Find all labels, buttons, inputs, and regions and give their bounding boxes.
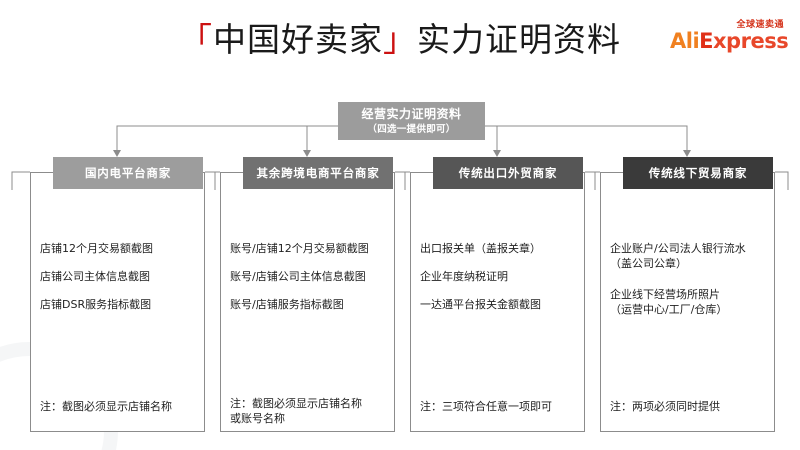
column-header-badge: 其余跨境电商平台商家	[243, 157, 393, 189]
list-item: 店铺DSR服务指标截图	[40, 297, 197, 312]
category-columns: 国内电平台商家 店铺12个月交易额截图 店铺公司主体信息截图 店铺DSR服务指标…	[0, 156, 800, 436]
column-header-badge: 传统出口外贸商家	[433, 157, 583, 189]
root-node-title: 经营实力证明资料	[338, 106, 485, 123]
column-header-badge: 国内电平台商家	[53, 157, 203, 189]
list-item: 出口报关单（盖报关章）	[420, 241, 577, 256]
aliexpress-logo: 全球速卖通 AliExpress	[670, 20, 786, 60]
root-node-subtitle: （四选一提供即可）	[338, 123, 485, 137]
list-item: 店铺12个月交易额截图	[40, 241, 197, 256]
logo-wordmark: AliExpress	[670, 30, 786, 52]
list-item: 企业账户/公司法人银行流水 （盖公司公章）	[610, 241, 767, 271]
list-item: 企业年度纳税证明	[420, 269, 577, 284]
list-item: 账号/店铺服务指标截图	[230, 297, 387, 312]
column-other-cross-border: 其余跨境电商平台商家 账号/店铺12个月交易额截图 账号/店铺公司主体信息截图 …	[220, 172, 395, 432]
slide-canvas: 「中国好卖家」实力证明资料 全球速卖通 AliExpress 经营实力证明资料 …	[0, 0, 800, 450]
column-traditional-offline: 传统线下贸易商家 企业账户/公司法人银行流水 （盖公司公章） 企业线下经营场所照…	[600, 172, 775, 432]
list-item: 账号/店铺公司主体信息截图	[230, 269, 387, 284]
column-note: 注：截图必须显示店铺名称	[40, 399, 197, 414]
list-item: 企业线下经营场所照片 （运营中心/工厂/仓库）	[610, 287, 767, 317]
column-body: 店铺12个月交易额截图 店铺公司主体信息截图 店铺DSR服务指标截图 注：截图必…	[40, 241, 197, 425]
column-header-badge: 传统线下贸易商家	[623, 157, 773, 189]
logo-e-text: E	[699, 29, 713, 53]
title-quoted-text: 中国好卖家	[213, 20, 383, 59]
title-close-bracket: 」	[383, 20, 417, 59]
list-item: 店铺公司主体信息截图	[40, 269, 197, 284]
column-note: 注：三项符合任意一项即可	[420, 399, 577, 414]
column-traditional-export: 传统出口外贸商家 出口报关单（盖报关章） 企业年度纳税证明 一达通平台报关金额截…	[410, 172, 585, 432]
column-body: 账号/店铺12个月交易额截图 账号/店铺公司主体信息截图 账号/店铺服务指标截图…	[230, 241, 387, 425]
column-note: 注：两项必须同时提供	[610, 399, 767, 414]
list-item: 一达通平台报关金额截图	[420, 297, 577, 312]
column-note: 注：截图必须显示店铺名称 或账号名称	[230, 396, 387, 426]
list-item: 账号/店铺12个月交易额截图	[230, 241, 387, 256]
column-body: 出口报关单（盖报关章） 企业年度纳税证明 一达通平台报关金额截图 注：三项符合任…	[420, 241, 577, 425]
logo-xpress-text: xpress	[713, 29, 788, 53]
column-domestic-platform: 国内电平台商家 店铺12个月交易额截图 店铺公司主体信息截图 店铺DSR服务指标…	[30, 172, 205, 432]
title-open-bracket: 「	[179, 20, 213, 59]
column-body: 企业账户/公司法人银行流水 （盖公司公章） 企业线下经营场所照片 （运营中心/工…	[610, 241, 767, 425]
title-rest-text: 实力证明资料	[417, 20, 621, 59]
root-node: 经营实力证明资料 （四选一提供即可）	[338, 102, 485, 140]
logo-ali-text: Ali	[670, 29, 699, 53]
